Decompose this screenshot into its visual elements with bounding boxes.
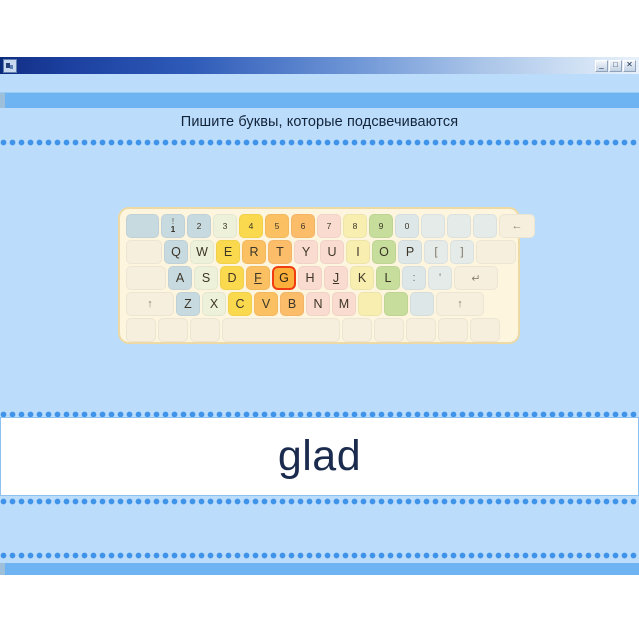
minimize-button[interactable]: _: [595, 60, 608, 72]
key-p[interactable]: P: [398, 240, 422, 264]
key-[interactable]: ↑: [436, 292, 484, 316]
key-label: G: [279, 271, 289, 285]
key-blank38[interactable]: [358, 292, 382, 316]
keyboard-row: !1234567890←: [126, 214, 512, 238]
key-label: A: [176, 271, 184, 285]
key-label: U: [327, 245, 336, 259]
key-b[interactable]: B: [280, 292, 304, 316]
key-blank013[interactable]: [473, 214, 497, 238]
key-r[interactable]: R: [242, 240, 266, 264]
top-blue-band: [0, 92, 639, 108]
key-v[interactable]: V: [254, 292, 278, 316]
window-titlebar: _ □ ✕: [0, 57, 639, 74]
key-[interactable]: ↵: [454, 266, 498, 290]
key-base-label: 1: [171, 226, 175, 234]
keyboard-frame: !1234567890←QWERTYUIOP[]ASDFGHJKL:'↵↑ZXC…: [118, 207, 520, 344]
key-i[interactable]: I: [346, 240, 370, 264]
top-pale-strip: [0, 74, 639, 92]
key-label: B: [288, 297, 296, 311]
key-label: W: [196, 245, 208, 259]
instruction-area: Пишите буквы, которые подсвечиваются: [0, 107, 639, 137]
key-label: ↵: [471, 272, 480, 285]
key-c[interactable]: C: [228, 292, 252, 316]
app-window: _ □ ✕ Пишите буквы, которые подсвечивают…: [0, 0, 639, 639]
key-dual-label: !1: [171, 218, 175, 234]
key-4[interactable]: 4: [239, 214, 263, 238]
key-label: 7: [327, 221, 332, 231]
key-label: H: [305, 271, 314, 285]
answer-display-box[interactable]: glad: [0, 417, 639, 496]
key-[interactable]: [: [424, 240, 448, 264]
key-y[interactable]: Y: [294, 240, 318, 264]
key-label: X: [210, 297, 218, 311]
bottom-blue-band: [0, 563, 639, 575]
key-[interactable]: ]: [450, 240, 474, 264]
desktop-background-bottom: [0, 575, 639, 639]
key-label: 5: [275, 221, 280, 231]
key-label: ]: [460, 246, 463, 258]
key-2[interactable]: 2: [187, 214, 211, 238]
minimize-icon: _: [599, 60, 603, 69]
instruction-text: Пишите буквы, которые подсвечиваются: [181, 114, 458, 130]
key-label: R: [249, 245, 258, 259]
app-window-icon: [3, 59, 17, 73]
key-d[interactable]: D: [220, 266, 244, 290]
key-[interactable]: ': [428, 266, 452, 290]
key-label: 3: [223, 221, 228, 231]
key-m[interactable]: M: [332, 292, 356, 316]
key-l[interactable]: L: [376, 266, 400, 290]
key-[interactable]: :: [402, 266, 426, 290]
keyboard-row: ASDFGHJKL:'↵: [126, 266, 512, 290]
key-5[interactable]: 5: [265, 214, 289, 238]
key-label: 6: [301, 221, 306, 231]
key-z[interactable]: Z: [176, 292, 200, 316]
keyboard-row: [126, 318, 512, 342]
key-blank48[interactable]: [470, 318, 500, 342]
answer-word: glad: [278, 432, 361, 481]
maximize-icon: □: [613, 60, 618, 69]
key-label: [: [434, 246, 437, 258]
key-blank310[interactable]: [410, 292, 434, 316]
key-label: Q: [171, 245, 181, 259]
key-n[interactable]: N: [306, 292, 330, 316]
key-blank10[interactable]: [126, 240, 162, 264]
key-s[interactable]: S: [194, 266, 218, 290]
key-label: 4: [249, 221, 254, 231]
key-blank42[interactable]: [190, 318, 220, 342]
key-blank43[interactable]: [222, 318, 340, 342]
window-controls: _ □ ✕: [595, 60, 636, 72]
key-1[interactable]: !1: [161, 214, 185, 238]
key-[interactable]: ←: [499, 214, 535, 238]
key-label: J: [333, 271, 339, 285]
key-label: Y: [302, 245, 310, 259]
key-label: 0: [405, 221, 410, 231]
dotted-divider-below-answer: [0, 498, 639, 505]
key-3[interactable]: 3: [213, 214, 237, 238]
key-blank00[interactable]: [126, 214, 159, 238]
key-label: M: [339, 297, 349, 311]
key-blank47[interactable]: [438, 318, 468, 342]
virtual-keyboard[interactable]: !1234567890←QWERTYUIOP[]ASDFGHJKL:'↵↑ZXC…: [118, 207, 520, 344]
key-label: K: [358, 271, 366, 285]
key-label: ↑: [147, 298, 153, 310]
key-q[interactable]: Q: [164, 240, 188, 264]
key-label: N: [313, 297, 322, 311]
key-label: 9: [379, 221, 384, 231]
key-o[interactable]: O: [372, 240, 396, 264]
dotted-divider-bottom: [0, 552, 639, 559]
key-7[interactable]: 7: [317, 214, 341, 238]
key-0[interactable]: 0: [395, 214, 419, 238]
close-icon: ✕: [626, 60, 633, 69]
key-blank41[interactable]: [158, 318, 188, 342]
key-label: ': [439, 272, 441, 284]
key-blank39[interactable]: [384, 292, 408, 316]
key-8[interactable]: 8: [343, 214, 367, 238]
key-label: O: [379, 245, 389, 259]
key-label: 8: [353, 221, 358, 231]
key-label: C: [235, 297, 244, 311]
desktop-background-top: [0, 0, 639, 57]
key-label: ↑: [457, 298, 463, 310]
key-blank44[interactable]: [342, 318, 372, 342]
key-[interactable]: ↑: [126, 292, 174, 316]
key-label: S: [202, 271, 210, 285]
key-blank20[interactable]: [126, 266, 166, 290]
app-content: Пишите буквы, которые подсвечиваются !12…: [0, 74, 639, 575]
key-label: V: [262, 297, 270, 311]
key-blank012[interactable]: [447, 214, 471, 238]
close-button[interactable]: ✕: [623, 60, 636, 72]
key-label: I: [356, 245, 359, 259]
key-label: Z: [184, 297, 192, 311]
key-f[interactable]: F: [246, 266, 270, 290]
key-label: ←: [512, 220, 523, 232]
maximize-button[interactable]: □: [609, 60, 622, 72]
dotted-divider-top: [0, 139, 639, 146]
key-u[interactable]: U: [320, 240, 344, 264]
key-blank46[interactable]: [406, 318, 436, 342]
key-label: L: [385, 271, 392, 285]
key-blank113[interactable]: [476, 240, 516, 264]
key-blank45[interactable]: [374, 318, 404, 342]
key-blank40[interactable]: [126, 318, 156, 342]
keyboard-row: QWERTYUIOP[]: [126, 240, 512, 264]
key-t[interactable]: T: [268, 240, 292, 264]
key-label: 2: [197, 221, 202, 231]
key-blank011[interactable]: [421, 214, 445, 238]
key-label: F: [254, 271, 262, 285]
key-k[interactable]: K: [350, 266, 374, 290]
key-label: D: [227, 271, 236, 285]
key-6[interactable]: 6: [291, 214, 315, 238]
key-label: P: [406, 245, 414, 259]
key-a[interactable]: A: [168, 266, 192, 290]
key-h[interactable]: H: [298, 266, 322, 290]
key-label: E: [224, 245, 232, 259]
key-g[interactable]: G: [272, 266, 296, 290]
key-9[interactable]: 9: [369, 214, 393, 238]
key-e[interactable]: E: [216, 240, 240, 264]
key-j[interactable]: J: [324, 266, 348, 290]
key-x[interactable]: X: [202, 292, 226, 316]
keyboard-row: ↑ZXCVBNM↑: [126, 292, 512, 316]
key-w[interactable]: W: [190, 240, 214, 264]
key-label: T: [276, 245, 284, 259]
key-label: :: [412, 272, 415, 284]
